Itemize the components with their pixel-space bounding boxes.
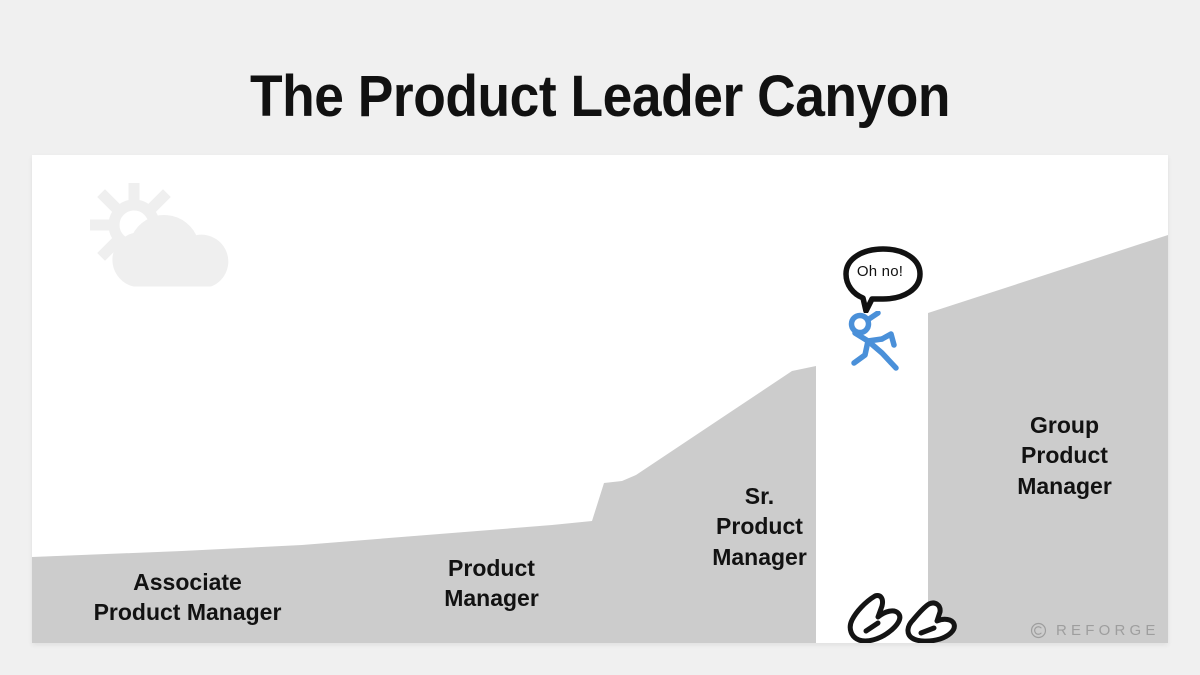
copyright-icon bbox=[1030, 622, 1047, 639]
left-terrain-slope bbox=[32, 366, 816, 643]
speech-bubble-text: Oh no! bbox=[842, 263, 918, 280]
sun-behind-cloud-icon bbox=[90, 183, 250, 303]
reaching-hands-icon bbox=[845, 590, 957, 643]
slide-canvas: Associate Product Manager Product Manage… bbox=[32, 155, 1168, 643]
page-title: The Product Leader Canyon bbox=[48, 65, 1152, 129]
right-cliff-wall bbox=[928, 235, 1168, 643]
falling-stick-figure-icon bbox=[844, 311, 912, 371]
reforge-watermark: REFORGE bbox=[1030, 622, 1160, 639]
reforge-wordmark: REFORGE bbox=[1056, 623, 1160, 638]
